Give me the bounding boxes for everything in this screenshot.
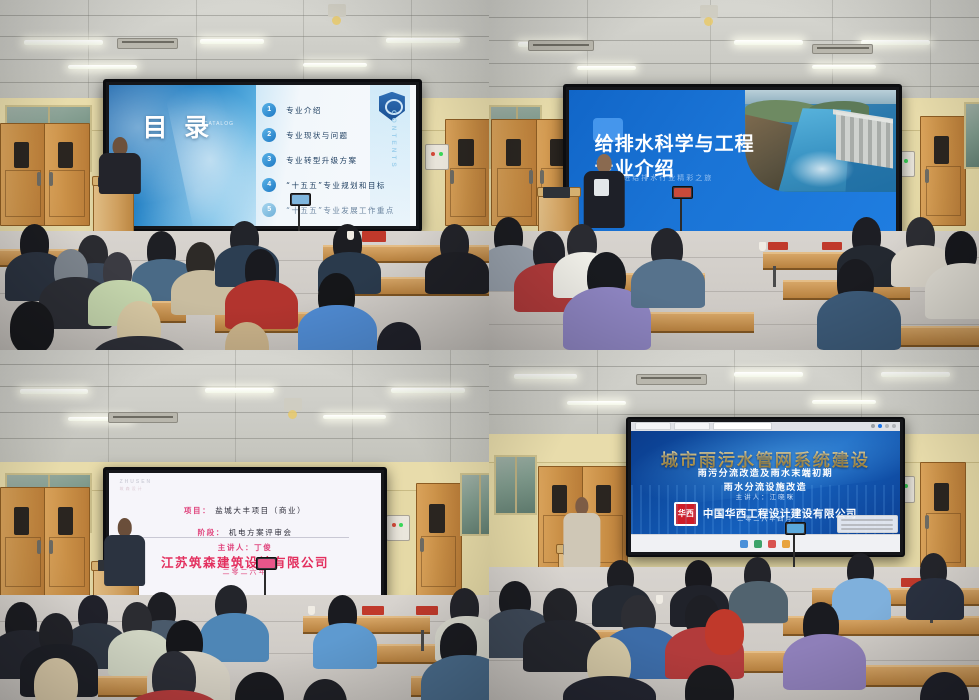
toc-item-label: 专业现状与问题 [286, 130, 348, 141]
project-row-key: 阶段： [198, 528, 225, 537]
project-row-value: 机电方案评审会 [229, 528, 293, 537]
slide-org-name: 中国华西工程设计建设有限公司 [703, 506, 857, 521]
toc-item: 1 专业介绍 [262, 103, 369, 117]
toc-item-number: 4 [262, 178, 276, 192]
huaxi-logo-icon: 华西 [674, 502, 698, 526]
browser-tab[interactable] [674, 422, 710, 430]
ceiling-lamp [68, 65, 136, 69]
slide-surface: 城市雨污水管网系统建设 雨污分流改造及雨水末端初期 雨水分流设施改造 主讲人：江… [631, 422, 899, 553]
ceiling-lamp [391, 388, 464, 393]
slide-speaker: 主讲人：江晓咪 [631, 491, 899, 501]
browser-tab-bar [631, 422, 899, 431]
door-left[interactable] [491, 119, 537, 226]
taskbar-app-icon[interactable] [768, 540, 776, 548]
audience-shoulder [906, 578, 965, 620]
ceiling [0, 350, 489, 469]
audience-shoulder [225, 280, 298, 329]
ceiling-lamp [577, 66, 636, 70]
paper-cup [656, 595, 663, 604]
slide-subtitle-line-2: 雨水分流设施改造 [631, 481, 899, 495]
ceiling-lamp [812, 400, 876, 404]
audience-shoulder [817, 291, 900, 351]
paper-cup [759, 242, 766, 251]
red-bag [768, 242, 788, 251]
slide-subtitle-line-1: 雨污分流改造及雨水末端初期 [631, 467, 899, 481]
ceiling-vent [117, 38, 178, 49]
ceiling-lamp [323, 415, 387, 419]
browser-window: 城市雨污水管网系统建设 雨污分流改造及雨水末端初期 雨水分流设施改造 主讲人：江… [631, 422, 899, 553]
taskbar-app-icon[interactable] [754, 540, 762, 548]
door-right[interactable] [920, 116, 966, 227]
audience-shoulder [425, 252, 489, 294]
ceiling-projector [328, 4, 346, 17]
toc-item: 3 专业转型升级方案 [262, 153, 369, 167]
toc-item-label: “十五五”专业规划和目标 [286, 180, 386, 191]
company-watermark-logo: ZHUSEN 筑森设计 [120, 479, 153, 492]
browser-close-icon[interactable] [892, 424, 896, 428]
ceiling-lamp [24, 40, 102, 45]
ceiling-vent [108, 412, 178, 423]
taskbar-app-icon[interactable] [782, 540, 790, 548]
logo-line-1: ZHUSEN [120, 479, 153, 485]
ceiling-lamp [200, 39, 264, 44]
toc-item: 2 专业现状与问题 [262, 128, 369, 142]
ceiling-vent [528, 40, 594, 51]
ceiling-lamp [303, 63, 367, 67]
ceiling-lamp [20, 389, 88, 394]
door-left-2[interactable] [44, 123, 90, 227]
interior-window-right [460, 473, 489, 537]
electrical-panel [425, 144, 449, 171]
red-bag [362, 231, 386, 242]
panel-top-left: 目 录 CATALOG CONTENTS 1 专业介绍 2 [0, 0, 489, 350]
logo-line-2: 筑森设计 [120, 486, 153, 492]
slide-vertical-label: CONTENTS [390, 110, 397, 170]
lecture-hall-room: 给排水科学与工程专业介绍 带你走进给排水行业精彩之旅 [489, 0, 979, 350]
ceiling-lamp [812, 65, 876, 69]
audience-shoulder [298, 305, 376, 351]
project-row: 项目： 盐城大丰项目（商业） [109, 505, 382, 516]
phone-on-tripod [785, 522, 806, 535]
photo-collage: 目 录 CATALOG CONTENTS 1 专业介绍 2 [0, 0, 979, 700]
slide-subtitle: 雨污分流改造及雨水末端初期 雨水分流设施改造 [631, 467, 899, 496]
audience-shoulder [832, 578, 891, 620]
audience-head [10, 301, 54, 350]
door-right[interactable] [416, 483, 462, 597]
toc-item-number: 1 [262, 103, 276, 117]
laptop [543, 187, 570, 198]
ceiling-lamp [567, 401, 626, 405]
slide-surface: 目 录 CATALOG CONTENTS 1 专业介绍 2 [109, 85, 416, 226]
browser-menu-icon[interactable] [871, 424, 875, 428]
slide-date: 二零二六年 [109, 567, 382, 577]
audience-shoulder [313, 623, 377, 669]
slide-surface: ZHUSEN 筑森设计 项目： 盐城大丰项目（商业） 阶段： 机电方案评审会 [109, 473, 382, 597]
toc-item: 5 “十五五”专业发展工作重点 [262, 203, 369, 217]
divider [141, 537, 348, 538]
phone-on-tripod [256, 557, 277, 570]
panel-bottom-left: ZHUSEN 筑森设计 项目： 盐城大丰项目（商业） 阶段： 机电方案评审会 [0, 350, 489, 700]
browser-side-panel[interactable] [837, 515, 898, 533]
project-row-key: 项目： [184, 506, 211, 515]
interior-window [494, 455, 537, 515]
phone-on-tripod [672, 186, 693, 199]
slide-table-of-contents: 目 录 CATALOG CONTENTS 1 专业介绍 2 [109, 85, 416, 226]
ceiling-lamp [881, 372, 950, 377]
interior-window-right [964, 102, 979, 169]
presenter [103, 518, 147, 585]
door-left[interactable] [0, 487, 46, 598]
desk-leg [421, 630, 424, 651]
ceiling-lamp [734, 372, 803, 377]
ceiling-lamp [386, 38, 459, 43]
door-right[interactable] [445, 119, 489, 226]
browser-minimize-icon[interactable] [885, 424, 889, 428]
audience-head [705, 609, 744, 655]
toc-list: 1 专业介绍 2 专业现状与问题 3 专业转型升级方案 [262, 103, 369, 226]
audience-shoulder [783, 634, 866, 690]
toc-item-number: 3 [262, 153, 276, 167]
lecture-hall-room: 目 录 CATALOG CONTENTS 1 专业介绍 2 [0, 0, 489, 350]
door-left-2[interactable] [44, 487, 90, 598]
ceiling-lamp [734, 40, 803, 45]
toc-item-label: “十五五”专业发展工作重点 [286, 205, 394, 216]
ceiling-lamp [514, 374, 578, 379]
ceiling-vent [812, 44, 873, 54]
slide-title: 目 录 [142, 113, 213, 144]
slide-river-dam-photo [745, 90, 896, 192]
paper-cup [347, 231, 354, 240]
toc-item: 4 “十五五”专业规划和目标 [262, 178, 369, 192]
led-display-screen: 城市雨污水管网系统建设 雨污分流改造及雨水末端初期 雨水分流设施改造 主讲人：江… [626, 417, 904, 558]
lecture-hall-room: ZHUSEN 筑森设计 项目： 盐城大丰项目（商业） 阶段： 机电方案评审会 [0, 350, 489, 700]
browser-tab[interactable] [635, 422, 671, 430]
phone-on-tripod [290, 193, 311, 206]
toc-item-label: 专业介绍 [286, 105, 322, 116]
ceiling-projector [284, 398, 302, 411]
taskbar [631, 534, 899, 552]
led-display-screen: 目 录 CATALOG CONTENTS 1 专业介绍 2 [103, 79, 422, 232]
toc-item-number: 5 [262, 203, 276, 217]
red-bag [362, 606, 384, 615]
red-bag [416, 606, 438, 615]
taskbar-app-icon[interactable] [740, 540, 748, 548]
door-left[interactable] [0, 123, 46, 227]
electrical-panel [386, 515, 410, 542]
presenter-shirt [594, 179, 609, 197]
browser-tab[interactable] [713, 422, 772, 430]
slide-org-name-en: China Huaxi Engineering Design & Constru… [631, 508, 899, 512]
ceiling-projector [700, 5, 718, 18]
panel-top-right: 给排水科学与工程专业介绍 带你走进给排水行业精彩之旅 [489, 0, 979, 350]
red-bag [822, 242, 842, 251]
slide-project-cover: ZHUSEN 筑森设计 项目： 盐城大丰项目（商业） 阶段： 机电方案评审会 [109, 473, 382, 597]
browser-account-icon[interactable] [878, 424, 882, 428]
panel-bottom-right: 城市雨污水管网系统建设 雨污分流改造及雨水末端初期 雨水分流设施改造 主讲人：江… [489, 350, 979, 700]
presenter [563, 497, 602, 567]
toc-item-number: 2 [262, 128, 276, 142]
presenter [98, 137, 142, 193]
paper-cup [308, 606, 315, 615]
audience-shoulder [631, 259, 705, 308]
lecture-hall-room: 城市雨污水管网系统建设 雨污分流改造及雨水末端初期 雨水分流设施改造 主讲人：江… [489, 350, 979, 700]
project-row-value: 盐城大丰项目（商业） [215, 506, 306, 515]
slide-title-sub: CATALOG [204, 121, 234, 127]
ceiling-lamp [205, 388, 273, 393]
ceiling-vent [636, 374, 707, 385]
toc-item-label: 专业转型升级方案 [286, 155, 357, 166]
desk-leg [773, 266, 776, 287]
